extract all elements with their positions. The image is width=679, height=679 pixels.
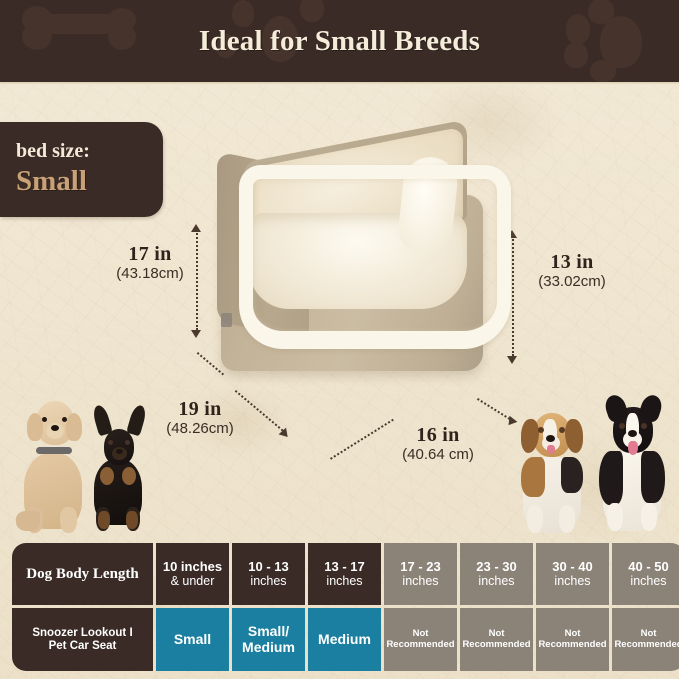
dimension-metric: (40.64 cm) [386,446,490,463]
cell-line-1: Small [174,632,211,648]
dimension-inches: 17 in [108,243,192,266]
bed-size-value: Small [16,165,87,198]
header-line-1: 40 - 50 [628,560,668,575]
dimension-label-depth: 19 in (48.26cm) [148,398,252,437]
header-banner: Ideal for Small Breeds [0,0,679,82]
dimension-inches: 16 in [386,424,490,447]
table-header-row-label: Dog Body Length [12,543,153,605]
cell-line-2: Recommended [538,640,606,651]
fleece-rim [239,165,511,349]
header-line-1: 17 - 23 [400,560,440,575]
header-line-1: 30 - 40 [552,560,592,575]
cell-line-1: Not [462,629,530,640]
header-line-1: 10 - 13 [248,560,288,575]
header-line-2: & under [163,574,222,588]
dimension-metric: (43.18cm) [108,265,192,282]
dimension-metric: (48.26cm) [148,420,252,437]
dog-border-collie [593,393,679,535]
header-line-2: inches [628,574,668,588]
table-header-cell: 40 - 50 inches [612,543,679,605]
table-cell-recommendation: Small/ Medium [232,608,305,671]
dimension-label-height-left: 17 in (43.18cm) [108,243,192,282]
table-row-label: Snoozer Lookout I Pet Car Seat [12,608,153,671]
dimension-line-width [330,419,394,460]
size-chart-table: Dog Body Length 10 inches & under 10 - 1… [12,543,669,671]
table-cell-recommendation: Not Recommended [612,608,679,671]
dimension-metric: (33.02cm) [520,273,624,290]
table-header-cell: 23 - 30 inches [460,543,533,605]
header-line-2: inches [400,574,440,588]
dogs-right-group [505,385,679,535]
bed-size-badge: bed size: Small [0,122,163,217]
cell-line-2: Medium [242,640,295,656]
header-line-2: inches [552,574,592,588]
dog-miniature-pinscher [84,407,158,533]
cell-line-2: Recommended [462,640,530,651]
product-image [205,135,515,385]
dimension-arrow-down [191,330,201,338]
infographic-page: Ideal for Small Breeds bed size: Small 1… [0,0,679,679]
dimension-line-height-right [512,236,514,356]
header-line-2: inches [324,574,364,588]
table-cell-recommendation: Not Recommended [536,608,609,671]
table-header-cell: 30 - 40 inches [536,543,609,605]
cell-line-1: Not [386,629,454,640]
page-title: Ideal for Small Breeds [0,0,679,82]
table-cell-recommendation: Small [156,608,229,671]
dimension-inches: 13 in [520,251,624,274]
dimension-line-height-left [196,230,198,330]
header-line-1: 23 - 30 [476,560,516,575]
row-label-line-2: Pet Car Seat [32,640,132,653]
header-line-1: 13 - 17 [324,560,364,575]
table-cell-recommendation: Not Recommended [460,608,533,671]
header-divider [0,82,679,85]
dimension-label-height-right: 13 in (33.02cm) [520,251,624,290]
table-row: Snoozer Lookout I Pet Car Seat Small Sma… [12,608,669,671]
dog-beagle [513,401,599,535]
cell-line-2: Recommended [614,640,679,651]
table-cell-recommendation: Medium [308,608,381,671]
cell-line-1: Not [538,629,606,640]
table-header-cell: 17 - 23 inches [384,543,457,605]
cell-line-2: Recommended [386,640,454,651]
header-line-1: 10 inches [163,560,222,575]
table-header-row: Dog Body Length 10 inches & under 10 - 1… [12,543,669,605]
header-line-2: inches [476,574,516,588]
cell-line-1: Medium [318,632,371,648]
cell-line-1: Small/ [242,624,295,640]
dimension-inches: 19 in [148,398,252,421]
dimension-label-width: 16 in (40.64 cm) [386,424,490,463]
brand-tag [221,313,232,327]
table-header-cell: 10 inches & under [156,543,229,605]
bed-size-label: bed size: [16,140,90,163]
table-header-cell: 13 - 17 inches [308,543,381,605]
cell-line-1: Not [614,629,679,640]
row-label-line-1: Snoozer Lookout I [32,627,132,640]
header-line-2: inches [248,574,288,588]
table-header-cell: 10 - 13 inches [232,543,305,605]
table-cell-recommendation: Not Recommended [384,608,457,671]
